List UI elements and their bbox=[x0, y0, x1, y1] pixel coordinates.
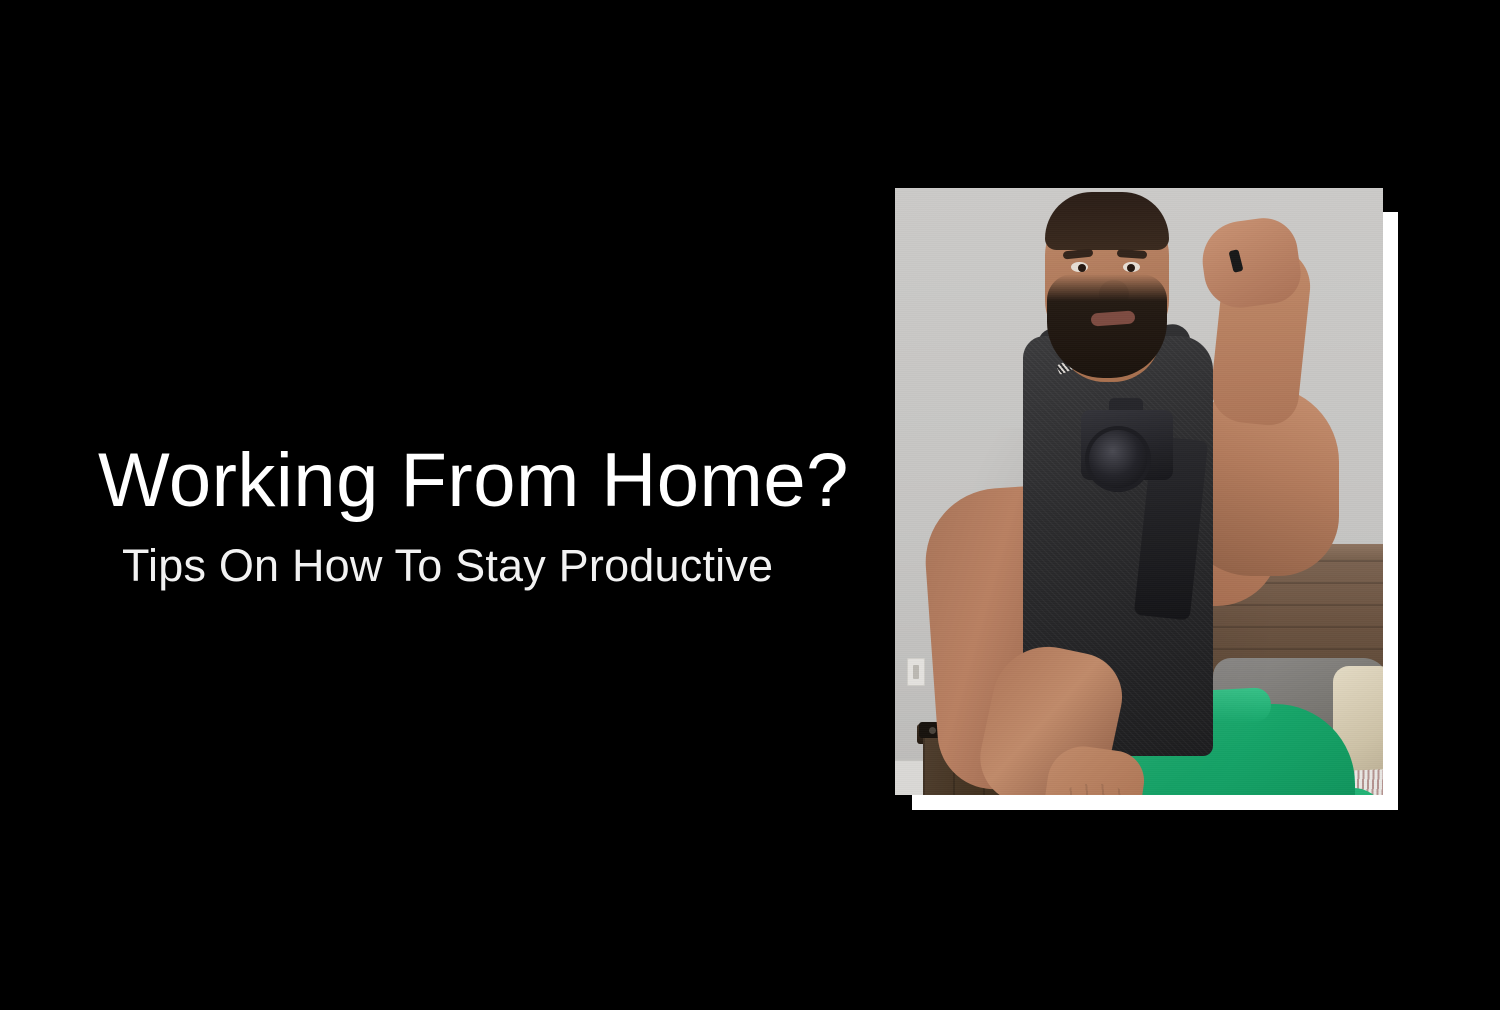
headline-block: Working From Home? Tips On How To Stay P… bbox=[98, 438, 858, 594]
photo-scene: HTROW N3L HTROW N3L HTROW N3L HTROW N3L … bbox=[895, 188, 1383, 795]
wall-outlet bbox=[907, 658, 925, 686]
bracket-bolt bbox=[929, 727, 936, 734]
hair bbox=[1045, 192, 1169, 250]
pupil-left bbox=[1078, 264, 1086, 272]
beard bbox=[1047, 274, 1167, 378]
hero-photo: HTROW N3L HTROW N3L HTROW N3L HTROW N3L … bbox=[895, 188, 1383, 795]
pupil-right bbox=[1127, 264, 1135, 272]
page-title: Working From Home? bbox=[98, 438, 858, 524]
banner-root: Working From Home? Tips On How To Stay P… bbox=[0, 0, 1500, 1010]
camera-lens-icon bbox=[1085, 426, 1151, 492]
page-subtitle: Tips On How To Stay Productive bbox=[122, 538, 858, 594]
